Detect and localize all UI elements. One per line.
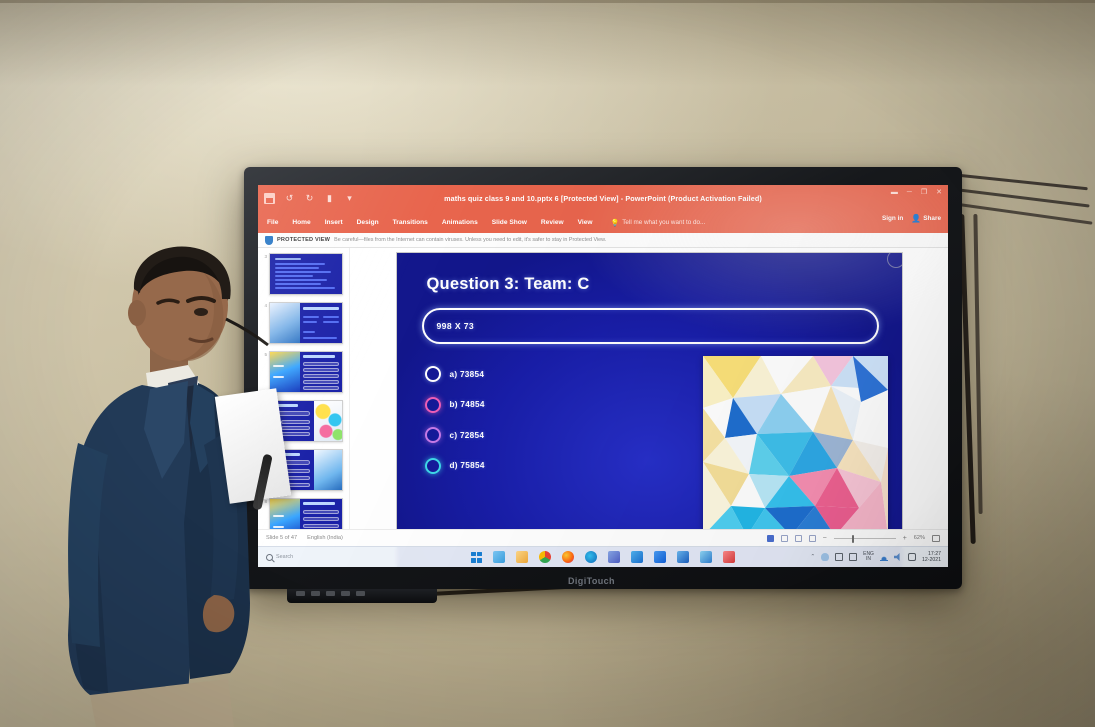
ribbon-tab-bar: File Home Insert Design Transitions Anim… — [258, 212, 948, 233]
volume-icon[interactable] — [894, 553, 902, 561]
slide-image[interactable] — [703, 356, 888, 536]
quick-access-toolbar[interactable]: ↺ ↻ ▮ ▾ — [264, 193, 355, 204]
display-ports — [296, 591, 365, 596]
powerpoint-status-bar: Slide 5 of 47 English (India) − + 62% — [258, 529, 948, 546]
firefox-icon[interactable] — [562, 551, 574, 563]
show-hidden-icons-icon[interactable]: ⌃ — [811, 554, 816, 560]
tell-me-label: Tell me what you want to do... — [622, 219, 705, 226]
zoom-out-button[interactable]: − — [823, 535, 827, 542]
tab-file[interactable]: File — [267, 219, 278, 226]
close-icon[interactable]: ✕ — [936, 189, 942, 197]
reading-view-icon[interactable] — [809, 535, 816, 542]
tab-design[interactable]: Design — [357, 219, 379, 226]
share-button[interactable]: 👤 Share — [911, 214, 941, 223]
answer-option-d[interactable]: d) 75854 — [425, 458, 485, 474]
tab-insert[interactable]: Insert — [325, 219, 343, 226]
undo-icon[interactable]: ↺ — [284, 193, 295, 204]
tab-transitions[interactable]: Transitions — [393, 219, 428, 226]
display-screen: ↺ ↻ ▮ ▾ maths quiz class 9 and 10.pptx 6… — [258, 185, 948, 567]
fit-to-window-icon[interactable] — [932, 535, 940, 542]
onedrive-icon[interactable] — [821, 553, 829, 561]
file-explorer-icon[interactable] — [516, 551, 528, 563]
answer-option-a[interactable]: a) 73854 — [425, 366, 485, 382]
slide-canvas[interactable]: Question 3: Team: C 998 X 73 a) 73854 — [350, 248, 948, 529]
document-title: maths quiz class 9 and 10.pptx 6 [Protec… — [258, 194, 948, 203]
option-label: a) 73854 — [450, 370, 485, 379]
edge-icon[interactable] — [585, 551, 597, 563]
redo-icon[interactable]: ↻ — [304, 193, 315, 204]
teams-icon[interactable] — [608, 551, 620, 563]
chrome-icon[interactable] — [539, 551, 551, 563]
zoom-slider[interactable] — [834, 535, 896, 542]
option-ring-icon — [425, 427, 441, 443]
customize-qat-icon[interactable]: ▾ — [344, 193, 355, 204]
display-brand-label: DigiTouch — [568, 576, 615, 586]
powerpoint-titlebar: ↺ ↻ ▮ ▾ maths quiz class 9 and 10.pptx 6… — [258, 185, 948, 212]
protected-view-bar: PROTECTED VIEW Be careful—files from the… — [258, 233, 948, 248]
pdf-reader-icon[interactable] — [723, 551, 735, 563]
windows-start-icon[interactable] — [471, 552, 482, 563]
classroom-scene: ↺ ↻ ▮ ▾ maths quiz class 9 and 10.pptx 6… — [0, 0, 1095, 727]
window-controls[interactable]: ▬ ─ ❐ ✕ — [891, 189, 942, 197]
system-tray: ⌃ ENG IN 17:27 12-2021 — [811, 551, 942, 564]
low-poly-artwork-icon — [703, 356, 888, 536]
notes-icon[interactable] — [767, 535, 774, 542]
restore-icon[interactable]: ─ — [907, 189, 912, 197]
zoom-in-button[interactable]: + — [903, 535, 907, 542]
clock[interactable]: 17:27 12-2021 — [922, 551, 941, 564]
wifi-icon[interactable] — [880, 553, 888, 561]
tab-view[interactable]: View — [578, 219, 593, 226]
option-ring-icon — [425, 458, 441, 474]
slide-title: Question 3: Team: C — [427, 275, 590, 294]
taskbar-apps — [471, 551, 735, 563]
tab-slide-show[interactable]: Slide Show — [492, 219, 527, 226]
start-slideshow-icon[interactable]: ▮ — [324, 193, 335, 204]
lightbulb-icon: 💡 — [611, 219, 620, 227]
status-right-controls: − + 62% — [767, 535, 940, 542]
option-label: d) 75854 — [450, 461, 485, 470]
person-share-icon: 👤 — [911, 214, 921, 223]
option-ring-icon — [425, 366, 441, 382]
display-icon[interactable] — [849, 553, 857, 561]
widgets-icon[interactable] — [493, 551, 505, 563]
ribbon-right-actions: Sign in 👤 Share — [882, 214, 941, 223]
slide-sorter-icon[interactable] — [795, 535, 802, 542]
powerpoint-window: ↺ ↻ ▮ ▾ maths quiz class 9 and 10.pptx 6… — [258, 185, 948, 567]
share-label: Share — [923, 215, 941, 222]
zoom-icon[interactable] — [654, 551, 666, 563]
tab-review[interactable]: Review — [541, 219, 564, 226]
wall-seam — [0, 0, 1095, 3]
tell-me-box[interactable]: 💡 Tell me what you want to do... — [611, 219, 706, 227]
language-region: IN — [863, 557, 874, 562]
answer-option-c[interactable]: c) 72854 — [425, 427, 485, 443]
protected-view-message: Be careful—files from the Internet can c… — [334, 237, 606, 243]
sign-in-button[interactable]: Sign in — [882, 215, 903, 222]
interactive-display: ↺ ↻ ▮ ▾ maths quiz class 9 and 10.pptx 6… — [244, 167, 962, 589]
camera-icon[interactable] — [631, 551, 643, 563]
option-label: b) 74854 — [450, 400, 485, 409]
maximize-icon[interactable]: ❐ — [921, 189, 927, 197]
battery-icon[interactable] — [835, 553, 843, 561]
question-text: 998 X 73 — [437, 321, 475, 331]
language-indicator[interactable]: English (India) — [307, 535, 343, 541]
windows-taskbar: Search — [258, 546, 948, 567]
photos-icon[interactable] — [700, 551, 712, 563]
normal-view-icon[interactable] — [781, 535, 788, 542]
answer-option-b[interactable]: b) 74854 — [425, 397, 485, 413]
language-indicator-tray[interactable]: ENG IN — [863, 552, 874, 562]
save-icon[interactable] — [264, 193, 275, 204]
minimize-icon[interactable]: ▬ — [891, 189, 898, 197]
clock-date: 12-2021 — [922, 557, 941, 564]
tab-animations[interactable]: Animations — [442, 219, 478, 226]
mobile-link-icon[interactable] — [677, 551, 689, 563]
option-label: c) 72854 — [450, 431, 485, 440]
current-slide[interactable]: Question 3: Team: C 998 X 73 a) 73854 — [397, 253, 902, 567]
zoom-percent[interactable]: 62% — [914, 535, 925, 541]
answer-options-list: a) 73854 b) 74854 c) 72854 — [425, 366, 485, 474]
notification-icon[interactable] — [908, 553, 916, 561]
wall-top-shadow — [0, 0, 1095, 86]
tab-home[interactable]: Home — [292, 219, 310, 226]
slide-resize-handle[interactable] — [887, 253, 902, 268]
option-ring-icon — [425, 397, 441, 413]
powerpoint-body: 3 — [258, 248, 948, 529]
question-box: 998 X 73 — [422, 308, 879, 344]
